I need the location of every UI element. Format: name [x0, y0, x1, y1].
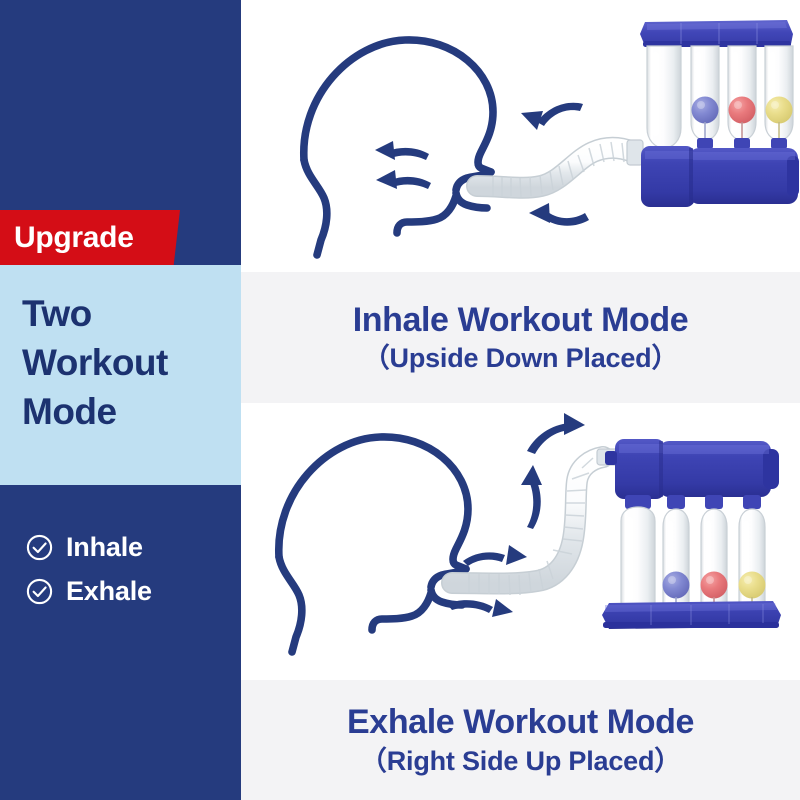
page-title-line-1: Two: [22, 290, 232, 339]
panel-inhale-mode: Inhale Workout Mode （Upside Down Placed）: [241, 0, 800, 403]
panel-exhale-mode: Exhale Workout Mode （Right Side Up Place…: [241, 409, 800, 800]
caption-inhale-mode: Inhale Workout Mode （Upside Down Placed）: [241, 272, 800, 403]
caption-subtitle: （Upside Down Placed）: [363, 342, 679, 375]
upgrade-ribbon: Upgrade: [0, 210, 180, 265]
caption-subtitle: （Right Side Up Placed）: [360, 745, 681, 778]
list-item-label: Exhale: [66, 578, 152, 605]
exhale-breathing-diagram: [241, 409, 800, 680]
upgrade-ribbon-label: Upgrade: [0, 223, 134, 253]
caption-title: Inhale Workout Mode: [353, 300, 689, 340]
sidebar: Upgrade Two Workout Mode Inhale: [0, 0, 241, 800]
check-circle-icon: [26, 578, 53, 605]
page-title: Two Workout Mode: [22, 290, 232, 436]
list-item: Inhale: [26, 525, 236, 569]
list-item: Exhale: [26, 569, 236, 613]
caption-title: Exhale Workout Mode: [347, 702, 694, 742]
list-item-label: Inhale: [66, 534, 143, 561]
feature-list: Inhale Exhale: [26, 525, 236, 613]
product-feature-graphic: Upgrade Two Workout Mode Inhale: [0, 0, 800, 800]
page-title-line-2: Workout: [22, 339, 232, 388]
check-circle-icon: [26, 534, 53, 561]
inhale-breathing-diagram: [241, 0, 800, 272]
page-title-line-3: Mode: [22, 388, 232, 437]
caption-exhale-mode: Exhale Workout Mode （Right Side Up Place…: [241, 680, 800, 800]
